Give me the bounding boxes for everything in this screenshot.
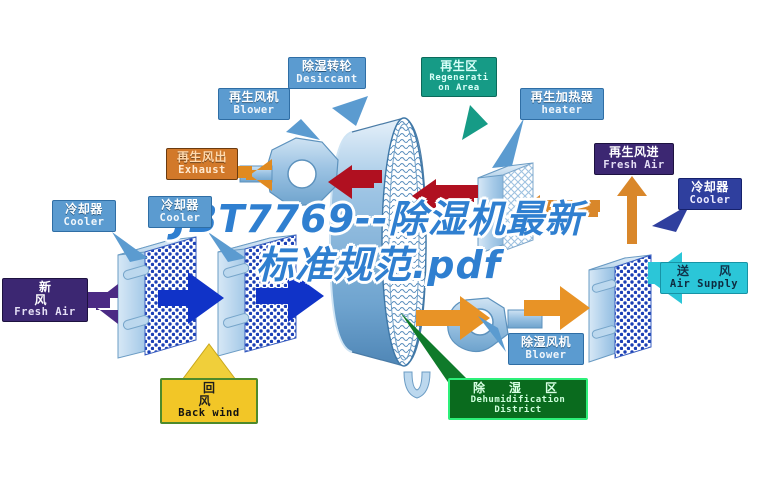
label-dehumidification-district: 除 湿 区 Dehumidification District (448, 378, 588, 420)
label-regeneration-heater-en: heater (525, 105, 599, 116)
label-air-supply: 送 风 Air Supply (660, 262, 748, 294)
label-cooler-mid: 冷却器 Cooler (148, 196, 212, 228)
label-desiccant-rotor-cn: 除湿转轮 (293, 60, 361, 73)
regeneration-blower-unit (240, 138, 338, 206)
label-cooler-left-en: Cooler (57, 217, 111, 228)
desiccant-rotor-wheel: XT (330, 118, 430, 398)
label-regeneration-blower-en: Blower (223, 105, 285, 116)
label-desiccant-rotor: 除湿转轮 Desiccant (288, 57, 366, 89)
label-cooler-mid-en: Cooler (153, 213, 207, 224)
label-regeneration-area-cn: 再生区 (426, 60, 492, 73)
label-regeneration-heater-cn: 再生加热器 (525, 91, 599, 104)
label-regeneration-blower: 再生风机 Blower (218, 88, 290, 120)
dehumidifier-diagram: XT (0, 0, 757, 488)
label-dehumidify-blower-en: Blower (513, 350, 579, 361)
label-cooler-left: 冷却器 Cooler (52, 200, 116, 232)
label-dehumidify-blower: 除湿风机 Blower (508, 333, 584, 365)
cooler-unit-right (589, 255, 651, 362)
label-fresh-air-inlet-en: Fresh Air (7, 307, 83, 318)
label-back-wind-en: Back wind (166, 408, 252, 419)
label-regeneration-fresh-air-cn: 再生风进 (599, 146, 669, 159)
regeneration-fresh-air-riser (617, 176, 647, 244)
label-desiccant-rotor-en: Desiccant (293, 74, 361, 85)
label-fresh-air-inlet-cn: 新 风 (7, 281, 83, 306)
label-regeneration-area-en1: Regenerati (426, 74, 492, 83)
label-back-wind-cn: 回 风 (166, 382, 252, 407)
label-dehumidify-blower-cn: 除湿风机 (513, 336, 579, 349)
label-regeneration-area: 再生区 Regenerati on Area (421, 57, 497, 97)
label-dehumidification-district-cn: 除 湿 区 (454, 382, 582, 395)
label-cooler-right: 冷却器 Cooler (678, 178, 742, 210)
label-regeneration-blower-cn: 再生风机 (223, 91, 285, 104)
label-air-supply-cn: 送 风 (665, 265, 743, 278)
label-back-wind: 回 风 Back wind (160, 378, 258, 424)
label-dehumidification-district-en1: Dehumidification (454, 396, 582, 405)
label-regeneration-area-en2: on Area (426, 84, 492, 93)
label-cooler-right-en: Cooler (683, 195, 737, 206)
label-regeneration-fresh-air-en: Fresh Air (599, 160, 669, 171)
label-regeneration-exhaust-cn: 再生风出 (171, 151, 233, 164)
label-regeneration-exhaust: 再生风出 Exhaust (166, 148, 238, 180)
label-fresh-air-inlet: 新 风 Fresh Air (2, 278, 88, 322)
label-cooler-left-cn: 冷却器 (57, 203, 111, 216)
label-regeneration-exhaust-en: Exhaust (171, 165, 233, 176)
label-cooler-mid-cn: 冷却器 (153, 199, 207, 212)
label-cooler-right-cn: 冷却器 (683, 181, 737, 194)
label-air-supply-en: Air Supply (665, 279, 743, 290)
label-regeneration-fresh-air: 再生风进 Fresh Air (594, 143, 674, 175)
diagram-graphics: XT (0, 0, 757, 488)
label-regeneration-heater: 再生加热器 heater (520, 88, 604, 120)
label-dehumidification-district-en2: District (454, 406, 582, 415)
